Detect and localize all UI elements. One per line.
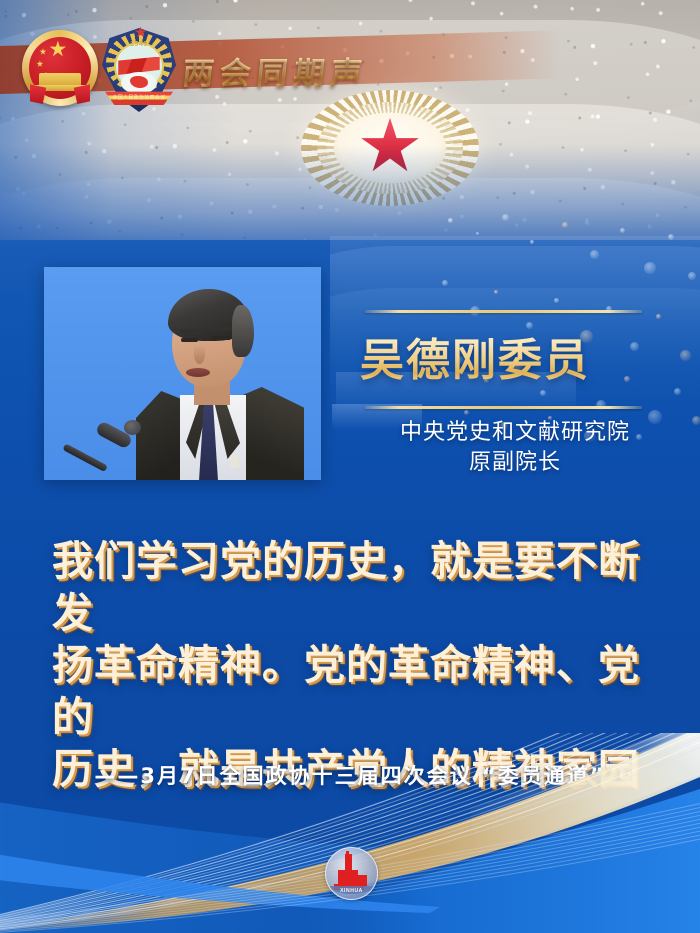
photo-pocket-badge bbox=[230, 455, 239, 468]
national-emblem-icon bbox=[22, 30, 98, 106]
speaker-title-line-2: 原副院长 bbox=[330, 448, 700, 478]
cppcc-year-label: 1949 bbox=[102, 41, 176, 48]
cppcc-globe-icon bbox=[121, 72, 157, 94]
photo-mouth bbox=[186, 368, 210, 377]
speaker-title-line-1: 中央党史和文献研究院 bbox=[330, 418, 700, 448]
microphone-head-icon bbox=[124, 420, 141, 435]
quote-line-1: 我们学习党的历史，就是要不断发 bbox=[52, 535, 652, 639]
photo-eye-left bbox=[181, 338, 198, 342]
decor-svg bbox=[0, 733, 700, 933]
photo-eyebrow-right bbox=[210, 327, 232, 332]
poster-canvas: 1949 中国人民政治协商会议 两会同期声 吴德刚委员 中央党史和文献研究院 bbox=[0, 0, 700, 933]
banner-title: 两会同期声 bbox=[181, 48, 371, 93]
microphone-stem-icon bbox=[62, 443, 108, 472]
photo-nose bbox=[194, 345, 205, 364]
bottom-decoration bbox=[0, 733, 700, 933]
tiananmen-gate-icon bbox=[39, 73, 82, 87]
speaker-photo bbox=[44, 267, 321, 480]
logo-text: XINHUA bbox=[325, 888, 378, 894]
name-rule-top bbox=[365, 310, 642, 313]
photo-eye-right bbox=[212, 336, 231, 340]
xinhua-logo-icon: XINHUA bbox=[325, 847, 378, 900]
cppcc-emblem-icon: 1949 中国人民政治协商会议 bbox=[102, 28, 176, 112]
cppcc-ribbon-label: 中国人民政治协商会议 bbox=[102, 94, 176, 101]
name-rule-bottom bbox=[365, 406, 642, 409]
quote-line-2: 扬革命精神。党的革命精神、党的 bbox=[52, 639, 652, 743]
speaker-name: 吴德刚委员 bbox=[360, 324, 660, 388]
speaker-title: 中央党史和文献研究院 原副院长 bbox=[330, 418, 700, 478]
photo-hair-side bbox=[232, 305, 254, 357]
